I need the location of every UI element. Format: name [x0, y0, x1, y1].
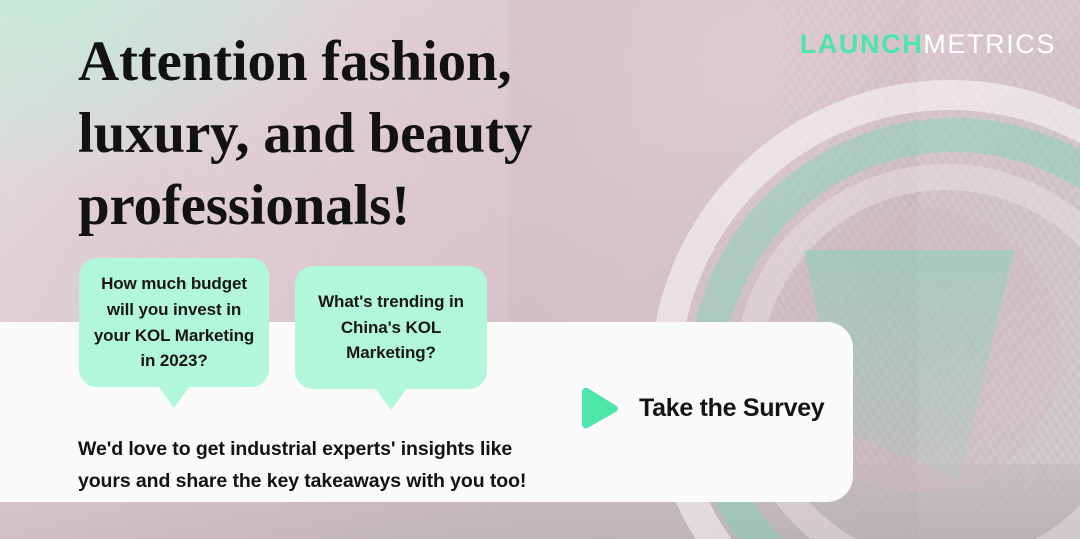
logo-text-metrics: METRICS: [923, 29, 1056, 59]
question-bubble-budget-text: How much budget will you invest in your …: [79, 271, 269, 374]
question-bubble-china-trends-text: What's trending in China's KOL Marketing…: [295, 289, 487, 366]
launchmetrics-logo: LAUNCHMETRICS: [800, 29, 1056, 60]
question-bubble-budget: How much budget will you invest in your …: [79, 258, 269, 387]
take-survey-button[interactable]: Take the Survey: [578, 386, 824, 430]
promo-banner: LAUNCHMETRICS Attention fashion, luxury,…: [0, 0, 1080, 539]
question-bubble-china-trends: What's trending in China's KOL Marketing…: [295, 266, 487, 389]
take-survey-label: Take the Survey: [639, 394, 824, 423]
headline-line-3: professionals!: [78, 170, 598, 242]
logo-text-launch: LAUNCH: [800, 29, 924, 59]
headline-line-2: luxury, and beauty: [78, 98, 598, 170]
page-title: Attention fashion, luxury, and beauty pr…: [78, 26, 598, 241]
body-text: We'd love to get industrial experts' ins…: [78, 434, 558, 497]
play-triangle-icon: [578, 386, 620, 430]
headline-line-1: Attention fashion,: [78, 26, 598, 98]
